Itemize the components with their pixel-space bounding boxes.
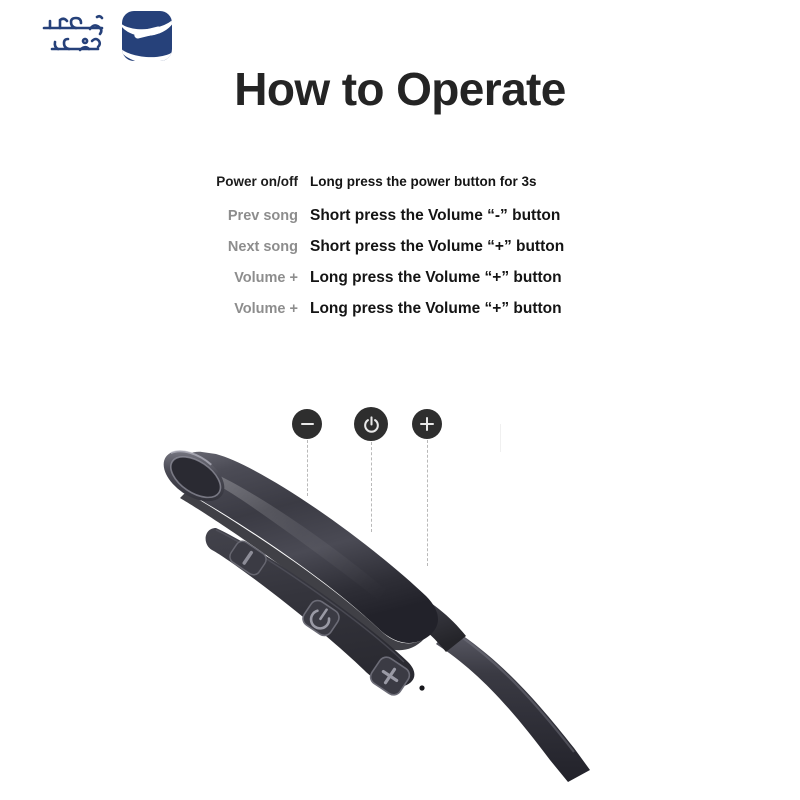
brand-mark-icon <box>122 11 172 61</box>
instruction-row-prev-song: Prev song Short press the Volume “-” but… <box>180 207 620 225</box>
instruction-description: Long press the power button for 3s <box>310 174 537 189</box>
instruction-label: Next song <box>180 239 310 255</box>
brand-wordmark-arabic <box>36 11 114 61</box>
callout-badge-volume-up[interactable] <box>412 409 442 439</box>
instruction-label: Volume + <box>180 301 310 317</box>
instruction-row-power: Power on/off Long press the power button… <box>180 174 620 189</box>
instruction-label: Power on/off <box>180 174 310 189</box>
power-icon <box>362 415 381 434</box>
earphone-cable <box>436 627 590 782</box>
minus-icon <box>301 423 314 426</box>
page-title: How to Operate <box>0 62 800 116</box>
instruction-description: Long press the Volume “+” button <box>310 269 562 287</box>
callout-badge-volume-down[interactable] <box>292 409 322 439</box>
product-illustration <box>150 430 650 790</box>
callout-badge-power[interactable] <box>354 407 388 441</box>
instruction-label: Prev song <box>180 208 310 224</box>
instruction-label: Volume + <box>180 270 310 286</box>
microphone-hole <box>419 685 424 690</box>
instruction-table: Power on/off Long press the power button… <box>180 174 620 331</box>
instruction-description: Short press the Volume “+” button <box>310 238 564 256</box>
brand-logo <box>36 8 226 64</box>
instruction-description: Long press the Volume “+” button <box>310 300 562 318</box>
instruction-row-volume-up-2: Volume + Long press the Volume “+” butto… <box>180 300 620 318</box>
instruction-row-next-song: Next song Short press the Volume “+” but… <box>180 238 620 256</box>
plus-icon <box>420 417 434 431</box>
instruction-description: Short press the Volume “-” button <box>310 207 560 225</box>
instruction-row-volume-up-1: Volume + Long press the Volume “+” butto… <box>180 269 620 287</box>
